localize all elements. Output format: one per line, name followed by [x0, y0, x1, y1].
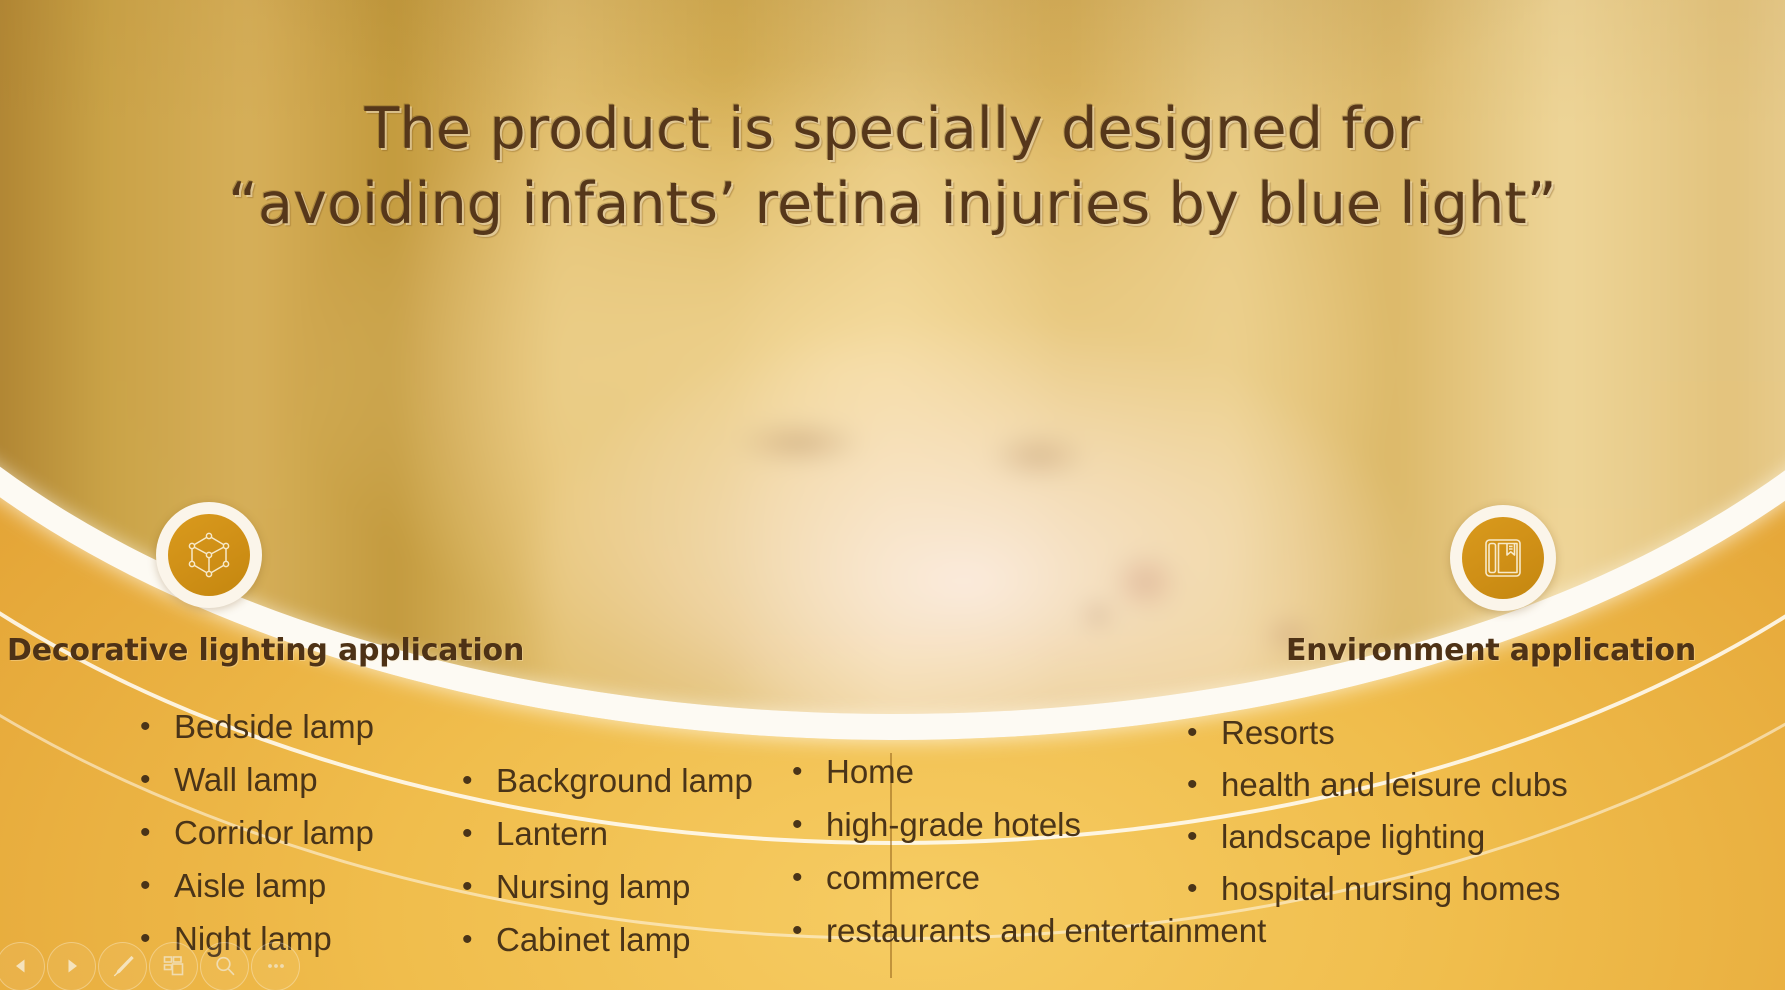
slide-title-line-2: “avoiding infants’ retina injuries by bl… [0, 167, 1785, 242]
book-bookmark-icon [1479, 534, 1527, 582]
slide-title: The product is specially designed for “a… [0, 92, 1785, 242]
list-item: •hospital nursing homes [1187, 870, 1568, 908]
list-item-label: commerce [826, 859, 980, 897]
triangle-left-icon [10, 955, 32, 977]
list-item: •Lantern [462, 815, 753, 853]
list-item: •Bedside lamp [140, 708, 374, 746]
list-item-label: high-grade hotels [826, 806, 1081, 844]
bullet-glyph: • [792, 753, 826, 791]
badge-environment [1450, 505, 1556, 611]
pen-tool-button[interactable] [98, 942, 147, 990]
next-slide-button[interactable] [47, 942, 96, 990]
badge-decorative-lighting [156, 502, 262, 608]
list-item-label: hospital nursing homes [1221, 870, 1560, 908]
ellipsis-icon [263, 953, 289, 979]
bullet-list-1: •Bedside lamp •Wall lamp •Corridor lamp … [140, 708, 374, 958]
zoom-button[interactable] [200, 942, 249, 990]
list-item: •Aisle lamp [140, 867, 374, 905]
list-item: •Background lamp [462, 762, 753, 800]
bullet-glyph: • [140, 814, 174, 852]
list-item: •landscape lighting [1187, 818, 1568, 856]
presentation-slide: The product is specially designed for “a… [0, 0, 1785, 990]
pen-icon [110, 953, 136, 979]
slide-title-line-1: The product is specially designed for [0, 92, 1785, 167]
list-item-label: Aisle lamp [174, 867, 326, 905]
bullet-glyph: • [1187, 766, 1221, 804]
list-item: •Wall lamp [140, 761, 374, 799]
list-item-label: Nursing lamp [496, 868, 690, 906]
list-item-label: Bedside lamp [174, 708, 374, 746]
list-item-label: Resorts [1221, 714, 1335, 752]
grid-slides-icon [161, 953, 187, 979]
list-item-label: Wall lamp [174, 761, 318, 799]
magnifier-icon [212, 953, 238, 979]
bullet-column-4: •Resorts •health and leisure clubs •land… [1187, 714, 1568, 922]
list-item-label: health and leisure clubs [1221, 766, 1568, 804]
bullet-column-2: •Background lamp •Lantern •Nursing lamp … [462, 762, 753, 974]
list-item-label: landscape lighting [1221, 818, 1485, 856]
section-heading-environment: Environment application [1286, 633, 1696, 668]
badge-inner-circle [168, 514, 250, 596]
bullet-list-4: •Resorts •health and leisure clubs •land… [1187, 714, 1568, 908]
list-item: •Resorts [1187, 714, 1568, 752]
bullet-glyph: • [792, 859, 826, 897]
bullet-glyph: • [140, 867, 174, 905]
bullet-glyph: • [462, 868, 496, 906]
list-item: •Nursing lamp [462, 868, 753, 906]
list-item-label: Corridor lamp [174, 814, 374, 852]
list-item-label: Home [826, 753, 914, 791]
badge-inner-circle [1462, 517, 1544, 599]
list-item: •health and leisure clubs [1187, 766, 1568, 804]
all-slides-button[interactable] [149, 942, 198, 990]
bullet-glyph: • [1187, 714, 1221, 752]
more-options-button[interactable] [251, 942, 300, 990]
presenter-toolbar [0, 930, 300, 990]
list-item-label: Lantern [496, 815, 608, 853]
bullet-glyph: • [792, 806, 826, 844]
bullet-list-2: •Background lamp •Lantern •Nursing lamp … [462, 762, 753, 959]
bullet-glyph: • [1187, 818, 1221, 856]
list-item: •Cabinet lamp [462, 921, 753, 959]
bullet-glyph: • [792, 912, 826, 950]
bullet-glyph: • [1187, 870, 1221, 908]
list-item-label: Background lamp [496, 762, 753, 800]
bullet-glyph: • [140, 761, 174, 799]
list-item: •Corridor lamp [140, 814, 374, 852]
bullet-glyph: • [462, 921, 496, 959]
section-heading-decorative-lighting: Decorative lighting application [7, 633, 524, 668]
triangle-right-icon [61, 955, 83, 977]
bullet-glyph: • [462, 815, 496, 853]
list-item-label: Cabinet lamp [496, 921, 690, 959]
bullet-glyph: • [140, 708, 174, 746]
cube-icon [184, 530, 234, 580]
previous-slide-button[interactable] [0, 942, 45, 990]
bullet-glyph: • [462, 762, 496, 800]
